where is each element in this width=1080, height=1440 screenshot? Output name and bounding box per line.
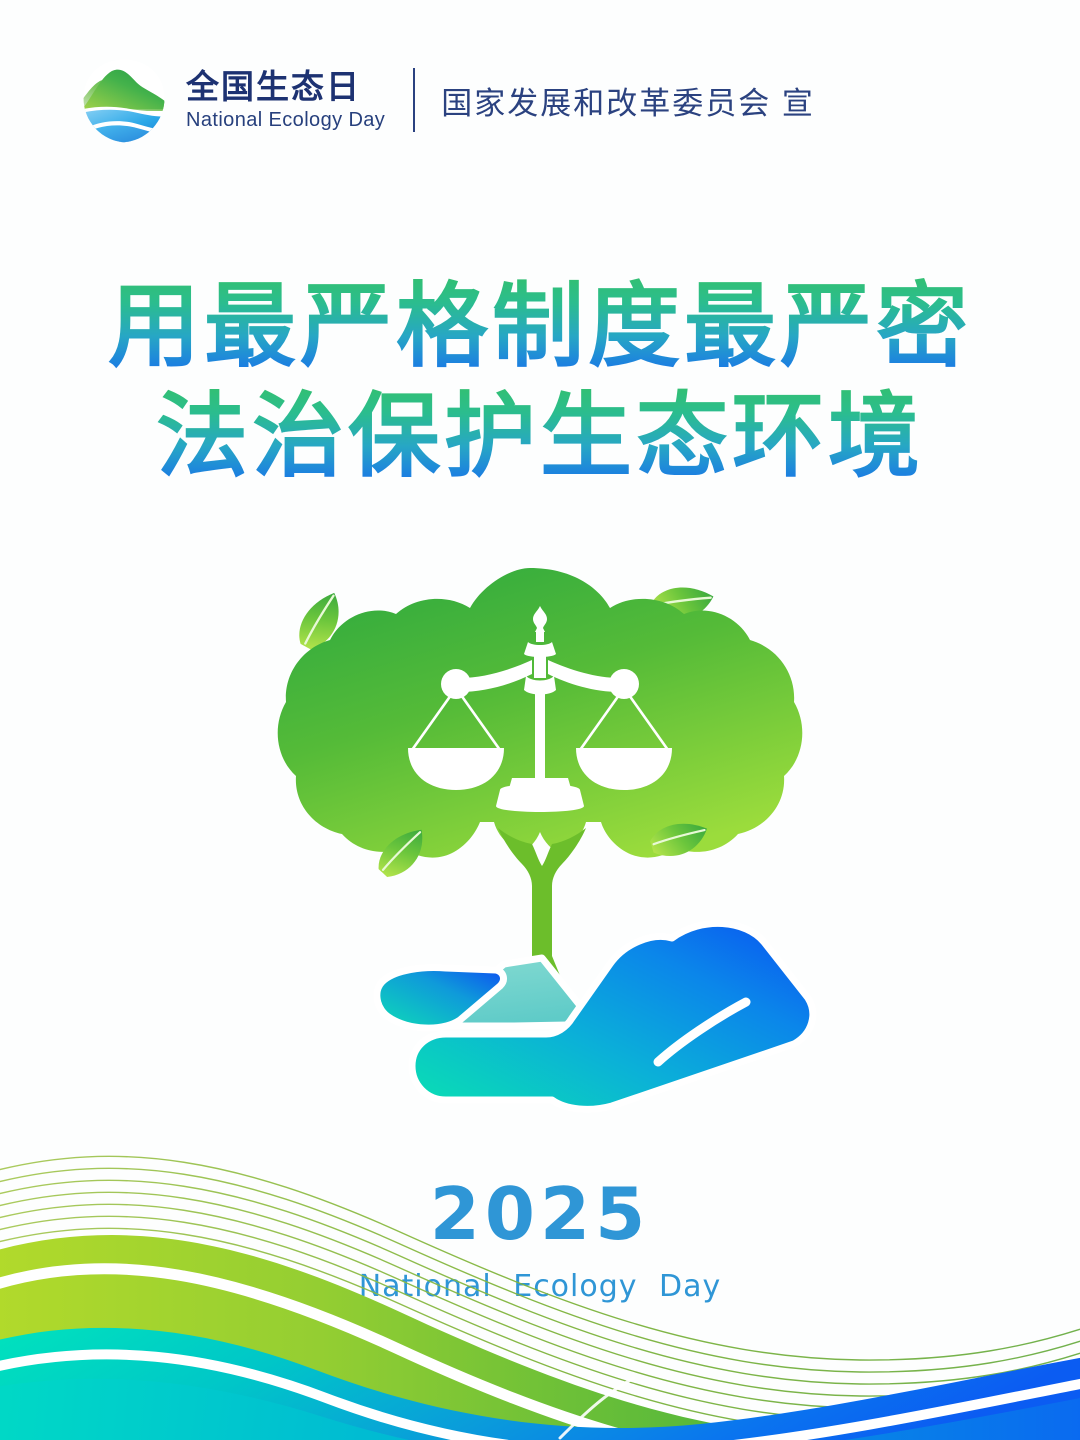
bottom-wave-decoration bbox=[0, 1120, 1080, 1440]
header-divider bbox=[413, 68, 415, 132]
headline-block: 用最严格制度最严密 法治保护生态环境 bbox=[0, 272, 1080, 492]
issuer-label: 国家发展和改革委员会 宣 bbox=[441, 78, 815, 123]
poster-canvas: 全国生态日 National Ecology Day 国家发展和改革委员会 宣 … bbox=[0, 0, 1080, 1440]
ecology-mountain-water-logo-icon bbox=[78, 54, 170, 146]
brand-text-block: 全国生态日 National Ecology Day bbox=[186, 70, 385, 130]
tree-scales-in-hand-illustration bbox=[260, 560, 820, 1120]
brand-name-cn: 全国生态日 bbox=[186, 70, 385, 103]
headline-line-1: 用最严格制度最严密 bbox=[0, 272, 1080, 382]
brand-name-en: National Ecology Day bbox=[186, 110, 385, 130]
poster-header: 全国生态日 National Ecology Day 国家发展和改革委员会 宣 bbox=[78, 52, 815, 148]
headline-line-2: 法治保护生态环境 bbox=[0, 382, 1080, 492]
